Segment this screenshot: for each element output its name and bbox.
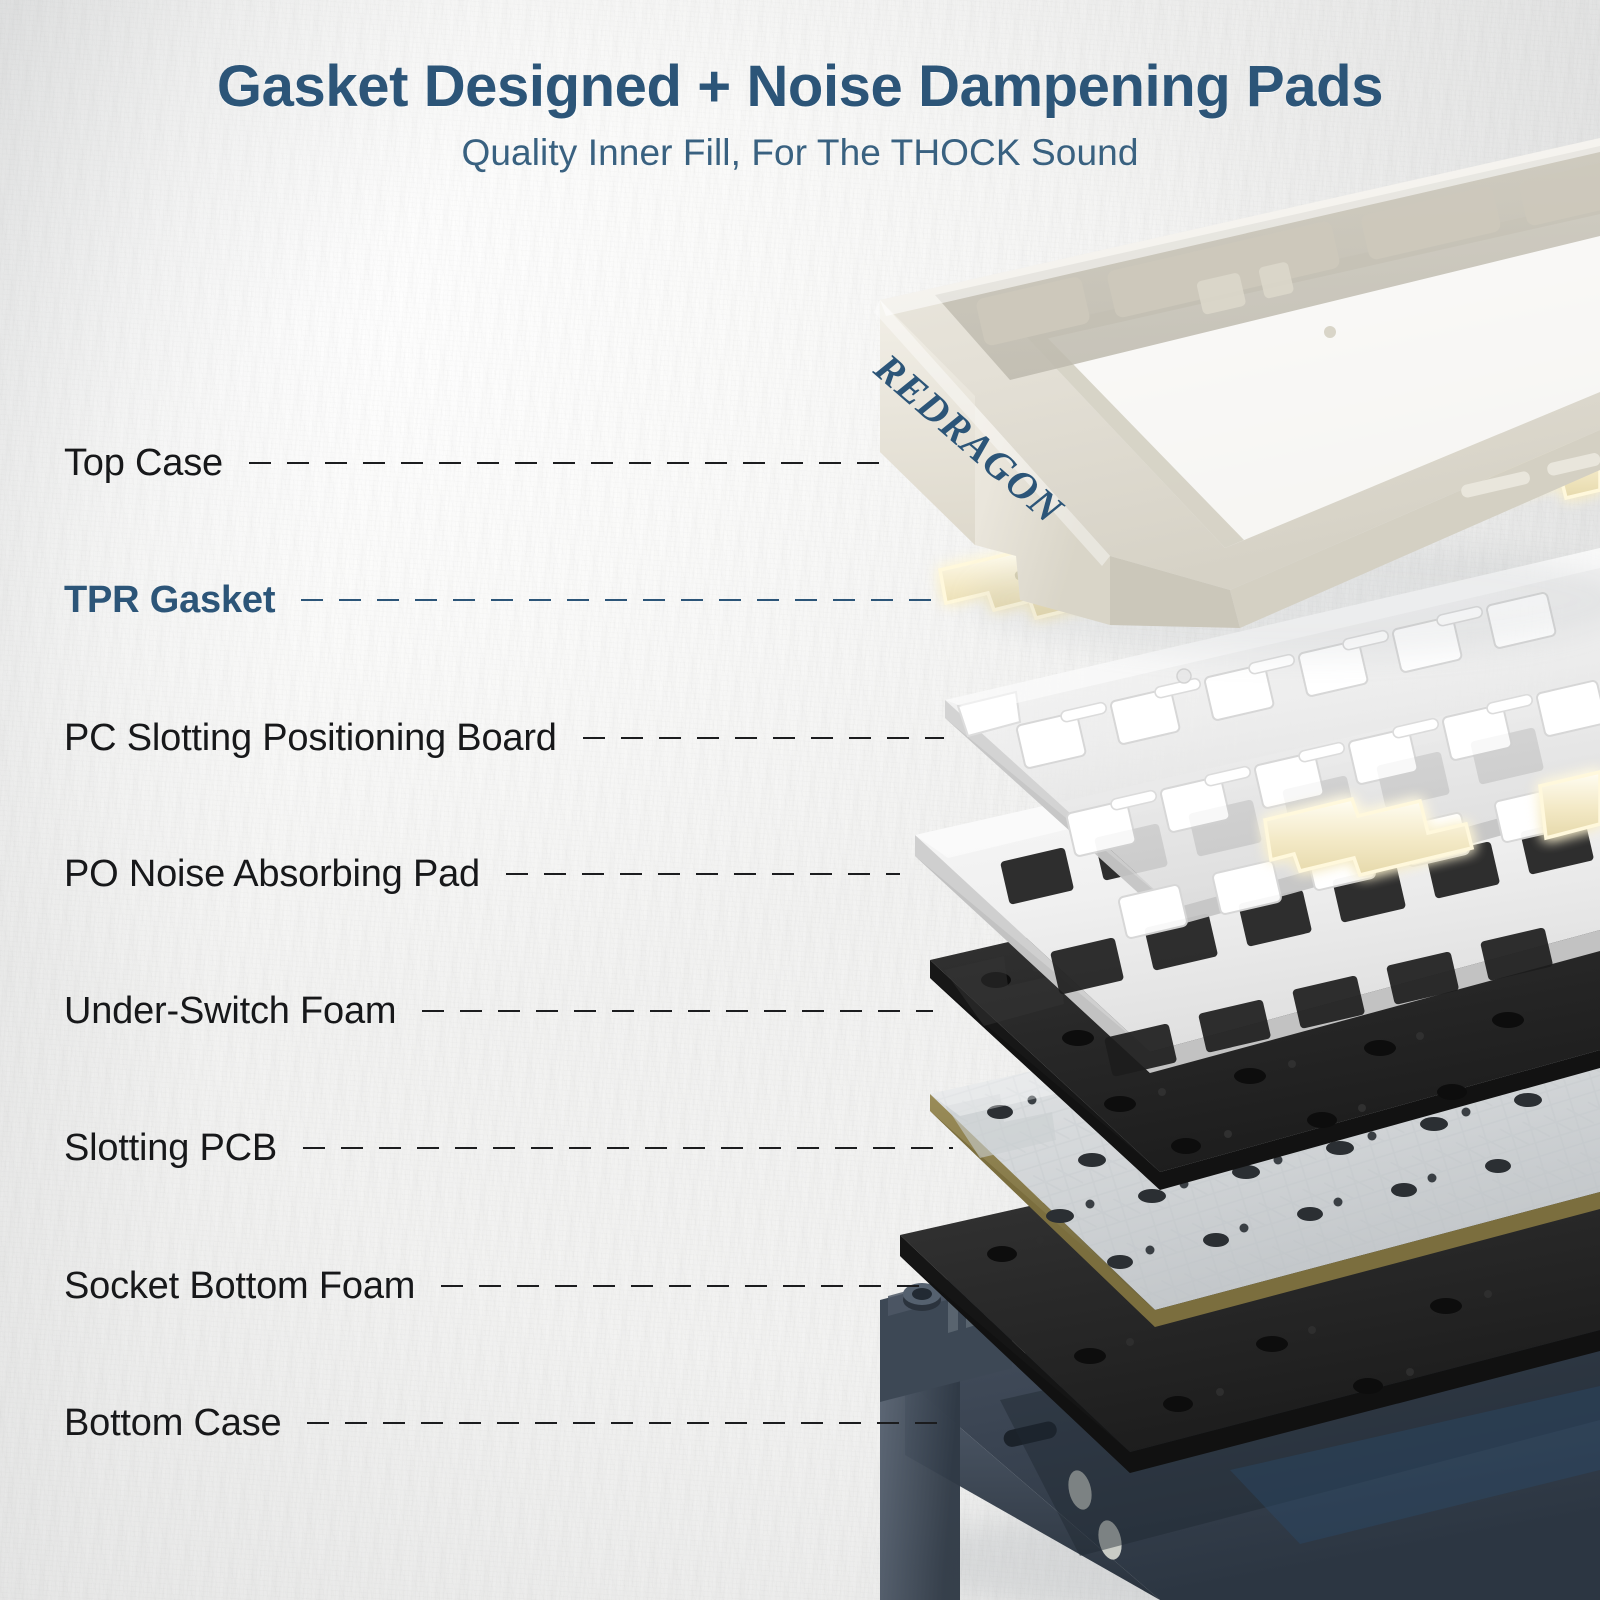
leader-line-bottom-case: [307, 1422, 945, 1424]
leader-line-socket-bottom-foam: [441, 1285, 928, 1287]
callout-label-socket-bottom-foam: Socket Bottom Foam: [64, 1267, 415, 1305]
callout-label-tpr-gasket: TPR Gasket: [64, 581, 275, 619]
callout-po-pad: PO Noise Absorbing Pad: [64, 846, 900, 902]
callout-socket-bottom-foam: Socket Bottom Foam: [64, 1258, 928, 1314]
callout-top-case: Top Case: [64, 435, 888, 491]
leader-line-top-case: [249, 462, 888, 464]
leader-line-under-switch-foam: [422, 1010, 933, 1012]
leader-line-slotting-pcb: [303, 1147, 953, 1149]
callout-label-pc-plate: PC Slotting Positioning Board: [64, 719, 557, 757]
callout-label-under-switch-foam: Under-Switch Foam: [64, 992, 396, 1030]
leader-line-tpr-gasket: [301, 599, 940, 601]
callout-tpr-gasket: TPR Gasket: [64, 572, 940, 628]
infographic-canvas: REDRAGON Gasket Designed + Noise Dampeni…: [0, 0, 1600, 1600]
callout-pc-plate: PC Slotting Positioning Board: [64, 710, 944, 766]
callout-label-po-pad: PO Noise Absorbing Pad: [64, 855, 480, 893]
callout-bottom-case: Bottom Case: [64, 1395, 945, 1451]
callout-slotting-pcb: Slotting PCB: [64, 1120, 953, 1176]
callout-label-list: Top CaseTPR GasketPC Slotting Positionin…: [0, 0, 1000, 1600]
callout-label-top-case: Top Case: [64, 444, 223, 482]
leader-line-po-pad: [506, 873, 900, 875]
callout-label-bottom-case: Bottom Case: [64, 1404, 281, 1442]
callout-under-switch-foam: Under-Switch Foam: [64, 983, 933, 1039]
callout-label-slotting-pcb: Slotting PCB: [64, 1129, 277, 1167]
leader-line-pc-plate: [583, 737, 944, 739]
